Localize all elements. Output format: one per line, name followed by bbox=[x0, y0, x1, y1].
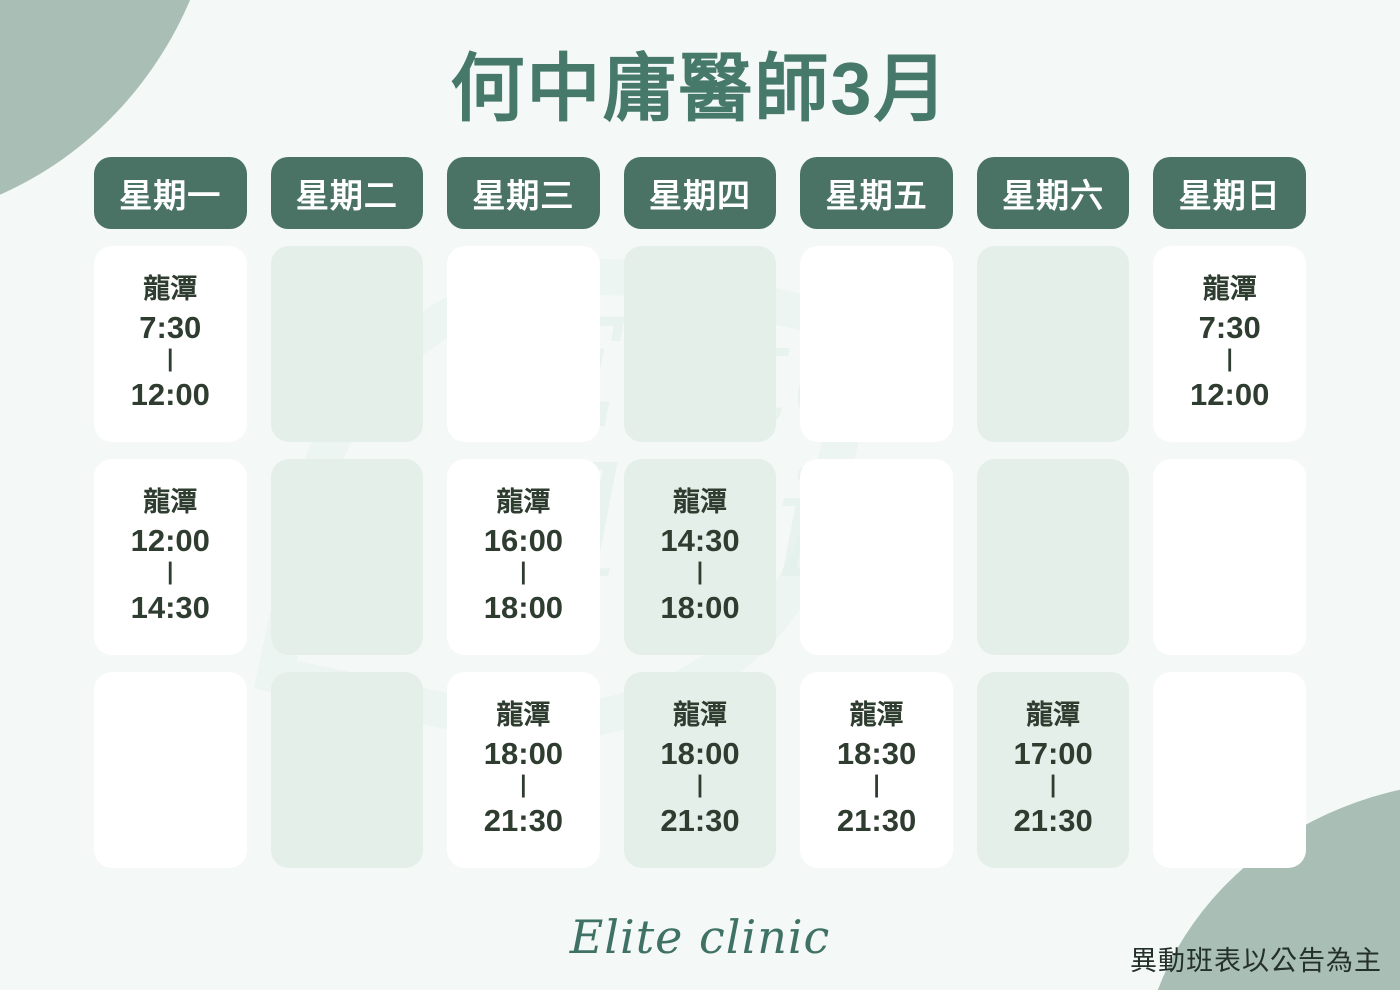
shift-cell bbox=[800, 459, 953, 655]
shift-start-time: 16:00 bbox=[484, 521, 563, 562]
shift-end-time: 21:30 bbox=[484, 801, 563, 842]
shift-range-separator: 丨 bbox=[865, 775, 889, 800]
shift-cell bbox=[271, 672, 424, 868]
shift-cell bbox=[800, 246, 953, 442]
shift-start-time: 7:30 bbox=[1199, 308, 1261, 349]
shift-end-time: 21:30 bbox=[660, 801, 739, 842]
shift-cell: 龍潭 18:00 丨 21:30 bbox=[624, 672, 777, 868]
weekday-label: 星期三 bbox=[472, 169, 574, 217]
clinic-name: 龍潭 bbox=[1026, 699, 1080, 733]
shift-start-time: 14:30 bbox=[660, 521, 739, 562]
shift-cell: 龍潭 18:30 丨 21:30 bbox=[800, 672, 953, 868]
shift-cell bbox=[624, 246, 777, 442]
shift-cell bbox=[977, 246, 1130, 442]
clinic-name: 龍潭 bbox=[850, 699, 904, 733]
weekday-header-thursday: 星期四 bbox=[624, 157, 777, 229]
shift-cell: 龍潭 14:30 丨 18:00 bbox=[624, 459, 777, 655]
shift-cell: 龍潭 17:00 丨 21:30 bbox=[977, 672, 1130, 868]
shift-cell bbox=[447, 246, 600, 442]
shift-range-separator: 丨 bbox=[1218, 349, 1242, 374]
weekday-header-row: 星期一 星期二 星期三 星期四 星期五 星期六 星期日 bbox=[94, 157, 1306, 229]
shift-range-separator: 丨 bbox=[688, 562, 712, 587]
clinic-name: 龍潭 bbox=[143, 486, 197, 520]
clinic-name: 龍潭 bbox=[496, 699, 550, 733]
shift-cell: 龍潭 7:30 丨 12:00 bbox=[94, 246, 247, 442]
shift-start-time: 7:30 bbox=[139, 308, 201, 349]
shift-range-separator: 丨 bbox=[158, 562, 182, 587]
page-title: 何中庸醫師3月 bbox=[94, 0, 1306, 131]
clinic-name: 龍潭 bbox=[1203, 273, 1257, 307]
weekday-label: 星期二 bbox=[296, 169, 398, 217]
shift-end-time: 18:00 bbox=[484, 588, 563, 629]
schedule-poster: 何中庸醫師3月 星期一 星期二 星期三 星期四 星期五 星期六 星期日 龍潭 7… bbox=[0, 0, 1400, 990]
shift-range-separator: 丨 bbox=[158, 349, 182, 374]
shift-end-time: 21:30 bbox=[837, 801, 916, 842]
weekday-header-sunday: 星期日 bbox=[1153, 157, 1306, 229]
weekday-header-tuesday: 星期二 bbox=[271, 157, 424, 229]
shift-cell bbox=[271, 246, 424, 442]
shift-start-time: 18:30 bbox=[837, 734, 916, 775]
shift-cell: 龍潭 18:00 丨 21:30 bbox=[447, 672, 600, 868]
shift-range-separator: 丨 bbox=[688, 775, 712, 800]
schedule-row: 龍潭 7:30 丨 12:00 bbox=[94, 246, 1306, 442]
shift-end-time: 14:30 bbox=[131, 588, 210, 629]
weekday-header-friday: 星期五 bbox=[800, 157, 953, 229]
schedule-row: 龍潭 12:00 丨 14:30 龍潭 16:00 丨 18:00 龍潭 14:… bbox=[94, 459, 1306, 655]
shift-start-time: 18:00 bbox=[660, 734, 739, 775]
shift-range-separator: 丨 bbox=[511, 775, 535, 800]
weekday-label: 星期五 bbox=[826, 169, 928, 217]
weekday-header-monday: 星期一 bbox=[94, 157, 247, 229]
schedule-change-note: 異動班表以公告為主 bbox=[1130, 939, 1382, 978]
schedule-grid: 龍潭 7:30 丨 12:00 bbox=[94, 246, 1306, 868]
shift-end-time: 12:00 bbox=[1190, 375, 1269, 416]
clinic-name: 龍潭 bbox=[143, 273, 197, 307]
clinic-logo: Elite clinic bbox=[570, 910, 831, 964]
weekday-header-wednesday: 星期三 bbox=[447, 157, 600, 229]
weekday-label: 星期六 bbox=[1002, 169, 1104, 217]
shift-cell: 龍潭 12:00 丨 14:30 bbox=[94, 459, 247, 655]
shift-start-time: 12:00 bbox=[131, 521, 210, 562]
poster-footer: Elite clinic 異動班表以公告為主 bbox=[0, 904, 1400, 990]
clinic-name: 龍潭 bbox=[496, 486, 550, 520]
shift-end-time: 12:00 bbox=[131, 375, 210, 416]
clinic-name: 龍潭 bbox=[673, 699, 727, 733]
shift-cell bbox=[977, 459, 1130, 655]
shift-cell bbox=[1153, 459, 1306, 655]
shift-range-separator: 丨 bbox=[511, 562, 535, 587]
shift-cell bbox=[1153, 672, 1306, 868]
schedule-row: 龍潭 18:00 丨 21:30 龍潭 18:00 丨 21:30 龍潭 18:… bbox=[94, 672, 1306, 868]
shift-end-time: 21:30 bbox=[1013, 801, 1092, 842]
weekday-header-saturday: 星期六 bbox=[977, 157, 1130, 229]
weekday-label: 星期日 bbox=[1179, 169, 1281, 217]
shift-cell bbox=[94, 672, 247, 868]
clinic-name: 龍潭 bbox=[673, 486, 727, 520]
shift-cell bbox=[271, 459, 424, 655]
shift-cell: 龍潭 16:00 丨 18:00 bbox=[447, 459, 600, 655]
shift-start-time: 18:00 bbox=[484, 734, 563, 775]
shift-end-time: 18:00 bbox=[660, 588, 739, 629]
weekday-label: 星期四 bbox=[649, 169, 751, 217]
shift-range-separator: 丨 bbox=[1041, 775, 1065, 800]
shift-cell: 龍潭 7:30 丨 12:00 bbox=[1153, 246, 1306, 442]
weekday-label: 星期一 bbox=[119, 169, 221, 217]
shift-start-time: 17:00 bbox=[1013, 734, 1092, 775]
